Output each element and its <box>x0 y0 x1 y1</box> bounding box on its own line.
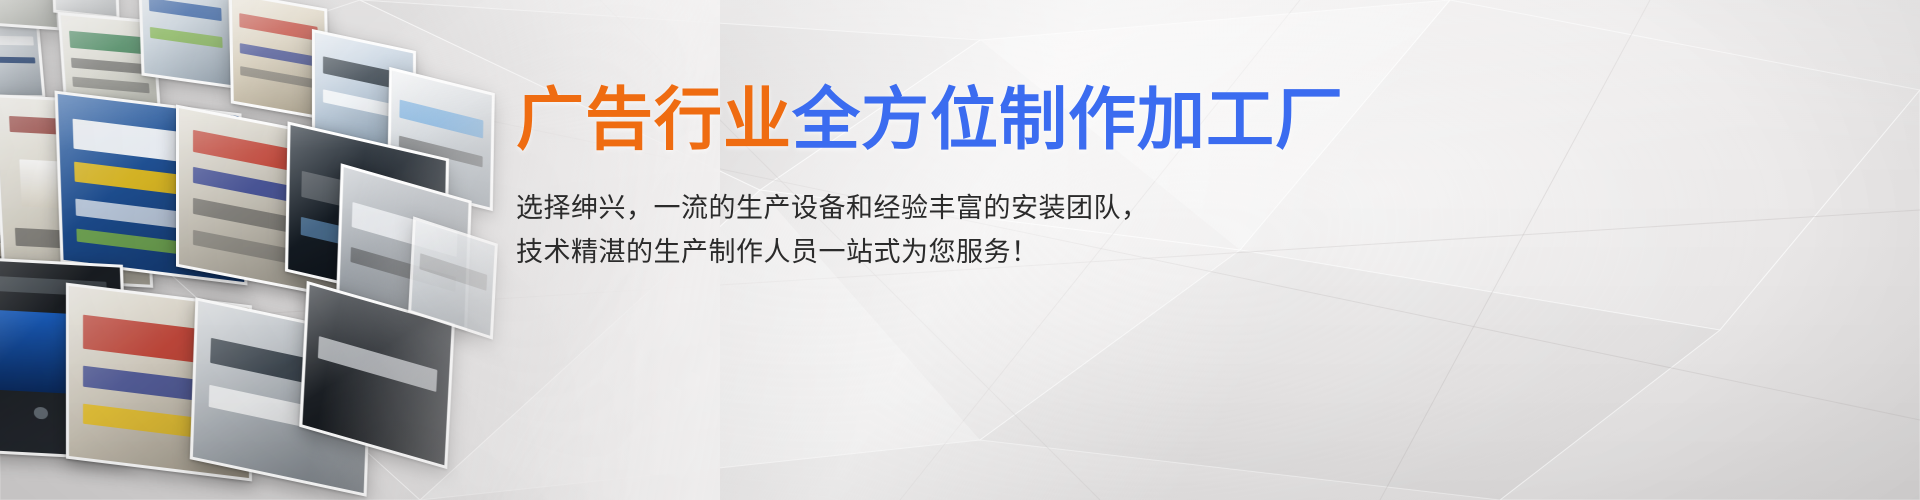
banner-headline: 广告行业全方位制作加工厂 <box>516 84 1576 157</box>
collage-tile <box>138 0 234 88</box>
promo-banner: 广告行业全方位制作加工厂 选择绅兴，一流的生产设备和经验丰富的安装团队， 技术精… <box>0 0 1920 500</box>
banner-subtitle: 选择绅兴，一流的生产设备和经验丰富的安装团队， 技术精湛的生产制作人员一站式为您… <box>516 157 1576 274</box>
banner-copy: 广告行业全方位制作加工厂 选择绅兴，一流的生产设备和经验丰富的安装团队， 技术精… <box>516 84 1576 275</box>
subtitle-line-2: 技术精湛的生产制作人员一站式为您服务！ <box>516 231 1576 275</box>
headline-part-orange: 广告行业 <box>516 82 792 158</box>
collage-tile <box>0 0 60 30</box>
headline-part-blue: 全方位制作加工厂 <box>792 82 1344 158</box>
collage-tile <box>0 22 45 99</box>
subtitle-line-1: 选择绅兴，一流的生产设备和经验丰富的安装团队， <box>516 187 1576 231</box>
